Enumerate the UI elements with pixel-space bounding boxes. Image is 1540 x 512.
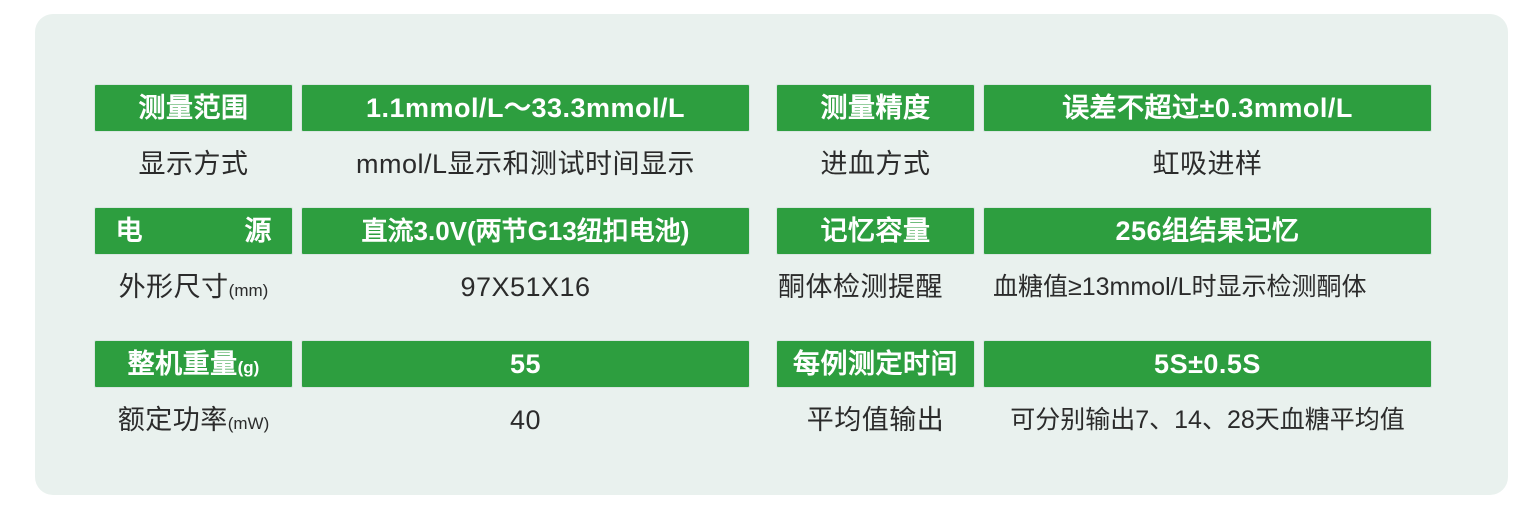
spec-value-text: mmol/L显示和测试时间显示 [356, 151, 695, 178]
spec-label-text: 显示方式 [139, 151, 249, 178]
spec-label-main: 额定功率 [118, 405, 228, 435]
spec-value-cell: 误差不超过±0.3mmol/L [983, 84, 1432, 132]
spec-label-cell: 平均值输出 [776, 396, 975, 444]
spec-label-text: 外形尺寸(mm) [119, 274, 269, 301]
spec-value-text: 直流3.0V(两节G13纽扣电池) [362, 218, 690, 244]
spec-value-text: 97X51X16 [460, 274, 590, 301]
spec-row: 平均值输出 可分别输出7、14、28天血糖平均值 [776, 396, 1432, 444]
spec-column-right: 测量精度 误差不超过±0.3mmol/L 进血方式 虹吸进样 记忆容量 [776, 84, 1432, 456]
spec-row: 额定功率(mW) 40 [94, 396, 750, 444]
spec-label-text: 额定功率(mW) [118, 407, 270, 434]
spec-label-text: 每例测定时间 [793, 351, 958, 378]
spec-label-text: 记忆容量 [821, 218, 931, 245]
spec-row: 测量范围 1.1mmol/L～33.3mmol/L [94, 84, 750, 132]
spec-label-main: 整机重量 [128, 349, 238, 379]
spec-column-left: 测量范围 1.1mmol/L～33.3mmol/L 显示方式 mmol/L显示和… [94, 84, 750, 456]
spec-label-main: 外形尺寸 [119, 272, 229, 302]
spec-value-cell: 97X51X16 [301, 263, 750, 311]
spec-label-unit: (mm) [229, 281, 269, 300]
spec-value-cell: 40 [301, 396, 750, 444]
spec-label-cell: 进血方式 [776, 140, 975, 188]
spec-label-cell: 测量范围 [94, 84, 293, 132]
spec-label-text: 进血方式 [821, 151, 931, 178]
spec-value-text: 血糖值≥13mmol/L时显示检测酮体 [993, 275, 1367, 300]
spec-value-text: 256组结果记忆 [1115, 218, 1299, 245]
spec-label-cell: 记忆容量 [776, 207, 975, 255]
spec-row: 外形尺寸(mm) 97X51X16 [94, 263, 750, 311]
spec-value-cell: mmol/L显示和测试时间显示 [301, 140, 750, 188]
spec-value-cell: 55 [301, 340, 750, 388]
spec-value-text: 虹吸进样 [1153, 151, 1263, 178]
spec-value-cell: 1.1mmol/L～33.3mmol/L [301, 84, 750, 132]
spec-row: 记忆容量 256组结果记忆 [776, 207, 1432, 255]
spec-value-cell: 直流3.0V(两节G13纽扣电池) [301, 207, 750, 255]
spec-grid: 测量范围 1.1mmol/L～33.3mmol/L 显示方式 mmol/L显示和… [94, 84, 1432, 456]
spec-label-unit: (g) [238, 358, 260, 377]
spec-label-cell: 额定功率(mW) [94, 396, 293, 444]
spec-label-cell: 外形尺寸(mm) [94, 263, 293, 311]
spec-label-cell: 电 源 [94, 207, 293, 255]
spec-value-text: 40 [510, 407, 541, 434]
spec-label-text: 测量精度 [821, 95, 931, 122]
spec-row: 进血方式 虹吸进样 [776, 140, 1432, 188]
spec-value-cell: 5S±0.5S [983, 340, 1432, 388]
spec-value-text: 55 [510, 351, 541, 378]
spec-label-text: 整机重量(g) [128, 351, 260, 378]
spec-row: 每例测定时间 5S±0.5S [776, 340, 1432, 388]
spec-label-cell: 测量精度 [776, 84, 975, 132]
spec-value-text: 可分别输出7、14、28天血糖平均值 [1010, 408, 1405, 433]
spec-value-cell: 256组结果记忆 [983, 207, 1432, 255]
spec-value-text: 5S±0.5S [1154, 351, 1261, 378]
spec-label-cell: 酮体检测提醒 [776, 263, 975, 311]
spec-label-cell: 显示方式 [94, 140, 293, 188]
spec-value-cell: 可分别输出7、14、28天血糖平均值 [983, 396, 1432, 444]
spec-label-text: 平均值输出 [807, 407, 945, 434]
spec-card: 测量范围 1.1mmol/L～33.3mmol/L 显示方式 mmol/L显示和… [35, 14, 1508, 495]
spec-row: 电 源 直流3.0V(两节G13纽扣电池) [94, 207, 750, 255]
spec-label-unit: (mW) [228, 414, 270, 433]
spec-row: 显示方式 mmol/L显示和测试时间显示 [94, 140, 750, 188]
spec-value-text: 1.1mmol/L～33.3mmol/L [366, 95, 685, 122]
spec-row: 整机重量(g) 55 [94, 340, 750, 388]
spec-row: 测量精度 误差不超过±0.3mmol/L [776, 84, 1432, 132]
spec-label-text: 测量范围 [139, 95, 249, 122]
spec-row: 酮体检测提醒 血糖值≥13mmol/L时显示检测酮体 [776, 263, 1432, 311]
spec-label-text: 电 源 [100, 218, 288, 245]
spec-value-text: 误差不超过±0.3mmol/L [1062, 95, 1353, 122]
spec-value-cell: 虹吸进样 [983, 140, 1432, 188]
spec-label-cell: 每例测定时间 [776, 340, 975, 388]
spec-label-cell: 整机重量(g) [94, 340, 293, 388]
spec-label-text: 酮体检测提醒 [778, 274, 943, 301]
spec-value-cell: 血糖值≥13mmol/L时显示检测酮体 [983, 263, 1432, 311]
